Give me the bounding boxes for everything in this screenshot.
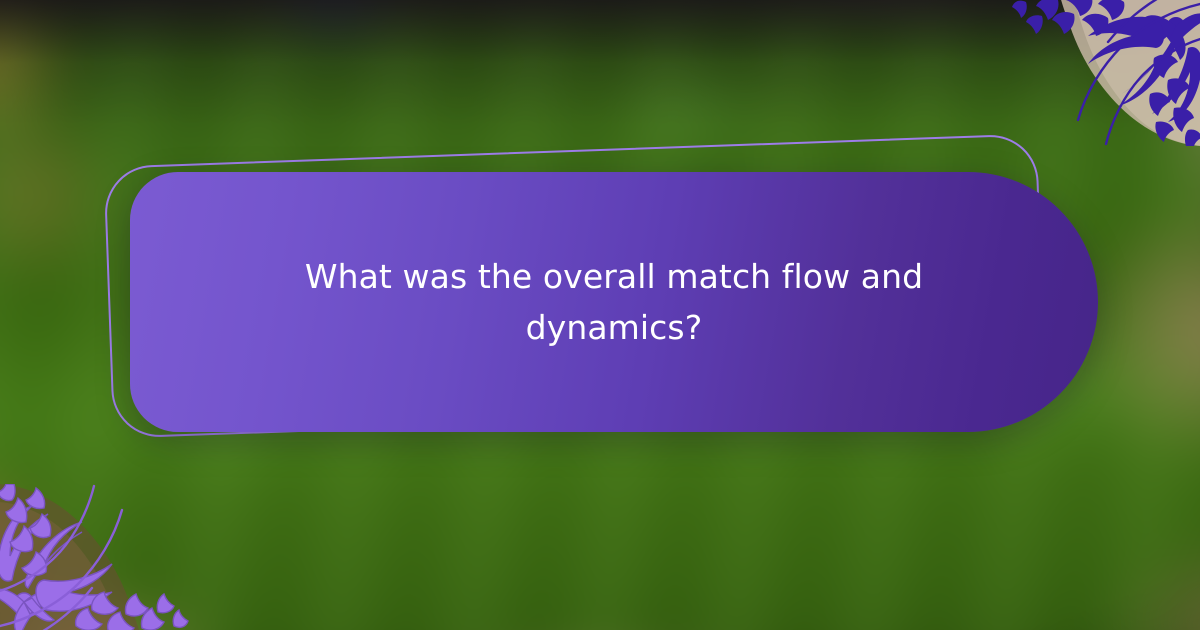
screenshot-canvas: What was the overall match flow and dyna… [0, 0, 1200, 630]
question-text: What was the overall match flow and dyna… [284, 251, 944, 353]
question-card: What was the overall match flow and dyna… [130, 172, 1098, 432]
